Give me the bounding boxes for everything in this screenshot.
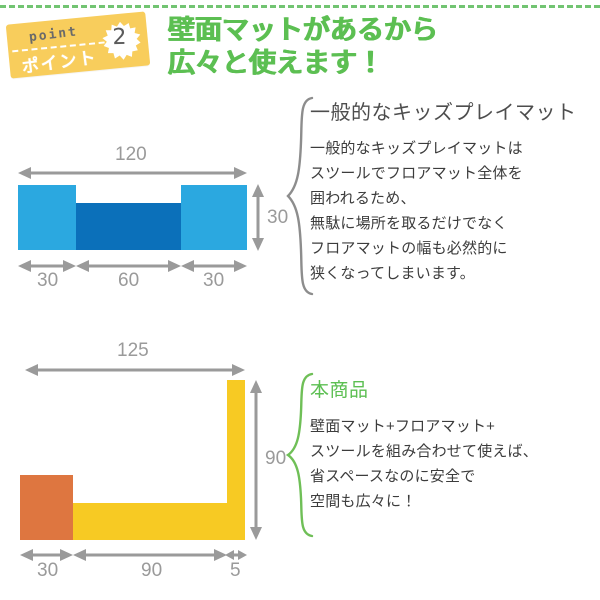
wall-mat-shape: [227, 380, 245, 540]
dimension-label-total-width: 120: [115, 145, 147, 164]
dimension-label-height: 30: [267, 208, 288, 227]
badge-english-label: point: [28, 24, 79, 45]
typical-mat-text-block: 一般的なキッズプレイマット 一般的なキッズプレイマットは スツールでフロアマット…: [310, 100, 598, 286]
left-stool-shape: [18, 185, 76, 250]
typical-mat-body: 一般的なキッズプレイマットは スツールでフロアマット全体を 囲われるため、 無駄…: [310, 136, 598, 286]
dimension-label-left-stool: 30: [37, 271, 58, 290]
dimension-label-total-width: 125: [117, 341, 149, 360]
dimension-label-right-stool: 30: [203, 271, 224, 290]
point-badge: point ポイント 2: [6, 11, 151, 78]
product-text-block: 本商品 壁面マット+フロアマット+ スツールを組み合わせて使えば、 省スペースな…: [310, 378, 598, 514]
top-dashed-divider: [0, 5, 600, 8]
product-body: 壁面マット+フロアマット+ スツールを組み合わせて使えば、 省スペースなのに安全…: [310, 414, 598, 514]
floor-mat-shape: [76, 203, 181, 250]
floor-mat-shape: [73, 503, 227, 540]
dimension-label-height: 90: [265, 449, 286, 468]
dimension-label-floor-mat: 60: [118, 271, 139, 290]
dimension-label-stool: 30: [37, 561, 58, 580]
main-heading: 壁面マットがあるから 広々と使えます！: [168, 14, 438, 80]
typical-mat-drawing: [0, 140, 300, 290]
badge-number: 2: [111, 27, 128, 49]
right-stool-shape: [181, 185, 247, 250]
dimension-label-floor-mat: 90: [141, 561, 162, 580]
typical-mat-diagram: 120 30 30 60 30: [0, 140, 300, 290]
product-mat-drawing: [0, 335, 300, 585]
stool-shape: [20, 475, 73, 540]
heading-line-1: 壁面マットがあるから: [168, 15, 438, 45]
product-title: 本商品: [310, 378, 598, 404]
dimension-label-wall-mat: 5: [230, 561, 241, 580]
page-root: point ポイント 2 壁面マットがあるから 広々と使えます！: [0, 0, 600, 600]
product-mat-diagram: 125 90 30 90 5: [0, 335, 300, 585]
typical-mat-title: 一般的なキッズプレイマット: [310, 100, 598, 126]
heading-line-2: 広々と使えます！: [168, 48, 384, 78]
